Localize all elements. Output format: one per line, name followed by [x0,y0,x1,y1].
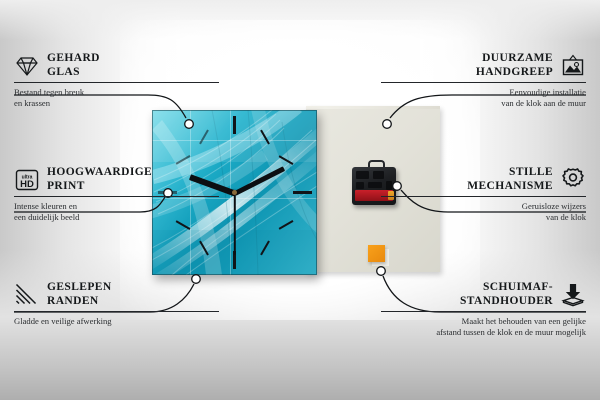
feature-desc-line2: een duidelijk beeld [14,212,219,223]
beveled-edges-icon [14,282,40,308]
feature-title-gehard-glas: GEHARD GLAS [47,52,100,79]
feature-desc-line1: Geruisloze wijzers [381,201,586,212]
press-pad-icon [560,282,586,308]
feature-title-line1: GESLEPEN [47,281,112,295]
feature-rule-gehard-glas [14,82,219,83]
diamond-icon [14,53,40,79]
feature-header-geslepen-randen: GESLEPEN RANDEN [14,281,219,308]
ultra-hd-icon: ultra HD [14,167,40,193]
feature-title-line1: GEHARD [47,52,100,66]
feature-duurzame-handgreep: DUURZAME HANDGREEP Eenvoudige installati… [381,52,586,108]
feature-desc-line1: Eenvoudige installatie [381,87,586,98]
feature-rule-schuimafstandhouder [381,311,586,312]
feature-desc-line2: van de klok [381,212,586,223]
feature-title-hoogwaardige-print: HOOGWAARDIGE PRINT [47,166,152,193]
feature-title-line1: DUURZAME [476,52,553,66]
feature-desc-line1: Gladde en veilige afwerking [14,316,219,327]
svg-text:HD: HD [20,178,34,189]
feature-title-stille-mechanisme: STILLE MECHANISME [467,166,553,193]
feature-title-schuimafstandhouder: SCHUIMAF- STANDHOUDER [460,281,553,308]
feature-title-geslepen-randen: GESLEPEN RANDEN [47,281,112,308]
feature-rule-geslepen-randen [14,311,219,312]
foam-spacer-pad [368,245,385,262]
feature-desc-schuimafstandhouder: Maakt het behouden van een gelijke afsta… [381,316,586,337]
feature-title-line2: PRINT [47,180,152,194]
mechanism-detail-4 [368,182,382,188]
feature-title-line1: SCHUIMAF- [460,281,553,295]
feature-desc-hoogwaardige-print: Intense kleuren en een duidelijk beeld [14,201,219,222]
feature-desc-line2: afstand tussen de klok en de muur mogeli… [381,327,586,338]
feature-desc-duurzame-handgreep: Eenvoudige installatie van de klok aan d… [381,87,586,108]
feature-hoogwaardige-print: ultra HD HOOGWAARDIGE PRINT Intense kleu… [14,166,219,222]
feature-desc-geslepen-randen: Gladde en veilige afwerking [14,316,219,327]
feature-title-line2: MECHANISME [467,180,553,194]
feature-header-schuimafstandhouder: SCHUIMAF- STANDHOUDER [381,281,586,308]
feature-gehard-glas: GEHARD GLAS Bestand tegen breuk en krass… [14,52,219,108]
feature-title-line1: HOOGWAARDIGE [47,166,152,180]
feature-rule-hoogwaardige-print [14,196,219,197]
feature-desc-gehard-glas: Bestand tegen breuk en krassen [14,87,219,108]
feature-rule-stille-mechanisme [381,196,586,197]
feature-desc-stille-mechanisme: Geruisloze wijzers van de klok [381,201,586,222]
feature-header-hoogwaardige-print: ultra HD HOOGWAARDIGE PRINT [14,166,219,193]
feature-desc-line1: Bestand tegen breuk [14,87,219,98]
gear-icon [560,167,586,193]
feature-header-stille-mechanisme: STILLE MECHANISME [381,166,586,193]
feature-desc-line1: Maakt het behouden van een gelijke [381,316,586,327]
mechanism-detail-1 [356,171,369,179]
picture-frame-icon [560,53,586,79]
clock-second-hand [234,193,236,255]
mechanism-detail-3 [356,182,364,189]
clock-center-hub [232,190,237,195]
feature-header-gehard-glas: GEHARD GLAS [14,52,219,79]
feature-desc-line2: van de klok aan de muur [381,98,586,109]
feature-title-line1: STILLE [467,166,553,180]
feature-rule-duurzame-handgreep [381,82,586,83]
feature-schuimafstandhouder: SCHUIMAF- STANDHOUDER Maakt het behouden… [381,281,586,337]
feature-title-line2: STANDHOUDER [460,295,553,309]
feature-stille-mechanisme: STILLE MECHANISME Geruisloze wijzers van… [381,166,586,222]
feature-desc-line1: Intense kleuren en [14,201,219,212]
feature-title-line2: GLAS [47,66,100,80]
feature-desc-line2: en krassen [14,98,219,109]
feature-title-line2: RANDEN [47,295,112,309]
feature-header-duurzame-handgreep: DUURZAME HANDGREEP [381,52,586,79]
feature-title-line2: HANDGREEP [476,66,553,80]
clock-tick-12 [233,116,235,134]
feature-title-duurzame-handgreep: DUURZAME HANDGREEP [476,52,553,79]
feature-geslepen-randen: GESLEPEN RANDEN Gladde en veilige afwerk… [14,281,219,327]
clock-tick-3 [293,191,312,194]
infographic-canvas: GEHARD GLAS Bestand tegen breuk en krass… [0,0,600,400]
